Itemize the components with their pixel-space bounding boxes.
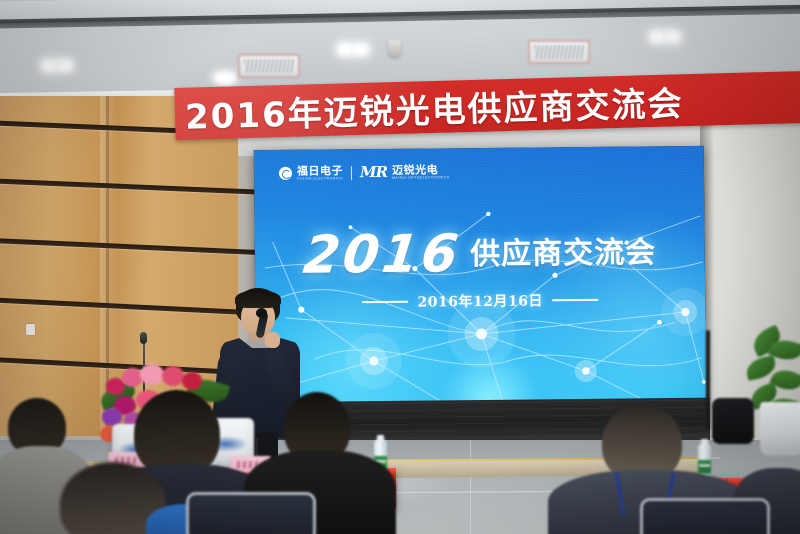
air-vent-icon — [528, 40, 590, 64]
date-rule-right — [552, 299, 598, 301]
downlight-icon — [215, 73, 235, 81]
chair — [640, 498, 770, 534]
logo-company-cn: 福日电子 — [297, 165, 343, 176]
wall-groove — [0, 238, 260, 255]
downlight-icon — [42, 60, 72, 71]
downlight-icon — [338, 44, 368, 55]
fuji-logo-icon — [279, 167, 292, 180]
hero-date: 2016年12月16日 — [417, 291, 543, 312]
hero-year: 2016 — [301, 230, 463, 281]
logo-brand-cn: 迈锐光电 — [392, 164, 450, 176]
wall-groove — [0, 178, 260, 194]
floor-tile-seam — [470, 440, 471, 534]
speaker-fringe — [235, 290, 281, 308]
logo-brand-en: MAIRUI OPTOELECTRONICS — [392, 175, 450, 180]
date-rule-left — [362, 301, 408, 303]
brand-mark-icon: MR — [360, 165, 387, 180]
smoke-detector-icon — [388, 40, 401, 57]
hero-subtitle: 供应商交流会 — [470, 238, 656, 270]
conference-photo-scene: 2016年迈锐光电供应商交流会 — [0, 0, 800, 534]
sponsor-logo: 福日电子 FUJIAN ELECTRONICS MR 迈锐光电 MAIRUI O… — [279, 164, 450, 181]
logo-divider — [351, 166, 352, 180]
screen-hero: 2016 供应商交流会 2016年12月16日 — [255, 228, 706, 314]
chair — [186, 492, 316, 534]
microphone-head-icon — [256, 308, 267, 318]
mic-head-icon — [140, 332, 147, 344]
flower — [162, 366, 184, 386]
air-vent-icon — [238, 54, 300, 78]
flower — [140, 364, 164, 385]
led-display-screen: 福日电子 FUJIAN ELECTRONICS MR 迈锐光电 MAIRUI O… — [254, 146, 706, 412]
hero-headline: 2016 供应商交流会 — [255, 228, 705, 282]
downlight-icon — [650, 31, 680, 42]
speaker-right-hand — [265, 332, 280, 348]
power-socket-icon — [26, 324, 35, 335]
plant-pot — [760, 402, 800, 456]
logo-company-en: FUJIAN ELECTRONICS — [297, 176, 343, 181]
flower — [182, 372, 202, 390]
